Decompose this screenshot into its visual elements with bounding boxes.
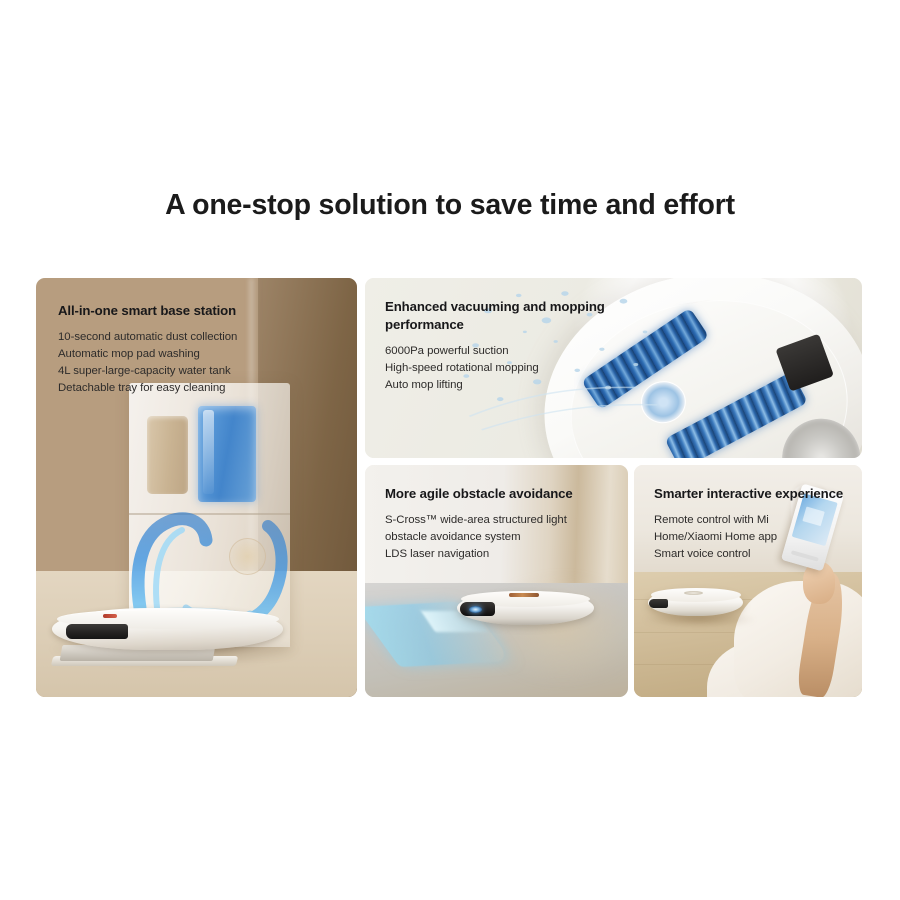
- feature-line: obstacle avoidance system: [385, 529, 600, 546]
- robot-body: [457, 591, 594, 625]
- interactive-text-block: Smarter interactive experience Remote co…: [654, 485, 844, 563]
- sensor-lens: [469, 606, 481, 613]
- feature-line: Remote control with Mi: [654, 512, 844, 529]
- card-feature-list: 10-second automatic dust collection Auto…: [58, 329, 318, 396]
- feature-line: Home/Xiaomi Home app: [654, 529, 844, 546]
- card-title: More agile obstacle avoidance: [385, 485, 600, 503]
- product-feature-page: A one-stop solution to save time and eff…: [0, 0, 900, 900]
- card-feature-list: 6000Pa powerful suction High-speed rotat…: [385, 343, 635, 393]
- robot-sensor-bumper: [66, 624, 128, 639]
- robot-body: [648, 589, 744, 616]
- card-feature-list: S-Cross™ wide-area structured light obst…: [385, 512, 600, 562]
- card-title: All-in-one smart base station: [58, 302, 318, 320]
- robot-vacuum-docked: [52, 596, 283, 659]
- feature-card-interactive-experience[interactable]: Smarter interactive experience Remote co…: [634, 465, 862, 697]
- feature-line: 4L super-large-capacity water tank: [58, 363, 318, 380]
- robot-vacuum: [457, 581, 594, 630]
- feature-line: Automatic mop pad washing: [58, 346, 318, 363]
- front-sensor: [649, 599, 668, 608]
- feature-line: Auto mop lifting: [385, 377, 635, 394]
- suction-fan: [229, 538, 266, 576]
- feature-line: 10-second automatic dust collection: [58, 329, 318, 346]
- robot-vacuum: [648, 583, 744, 620]
- robot-indicator-light: [103, 614, 117, 618]
- feature-line: Smart voice control: [654, 546, 844, 563]
- card-title: Smarter interactive experience: [654, 485, 844, 503]
- dust-bag: [147, 416, 189, 494]
- obstacle-text-block: More agile obstacle avoidance S-Cross™ w…: [385, 485, 600, 563]
- card-title: Enhanced vacuuming and mopping performan…: [385, 298, 635, 334]
- card-feature-list: Remote control with Mi Home/Xiaomi Home …: [654, 512, 844, 562]
- robot-body: [52, 608, 283, 651]
- lds-laser-turret: [509, 593, 539, 597]
- feature-line: 6000Pa powerful suction: [385, 343, 635, 360]
- feature-card-performance[interactable]: Enhanced vacuuming and mopping performan…: [365, 278, 862, 458]
- page-title: A one-stop solution to save time and eff…: [0, 188, 900, 222]
- feature-card-obstacle-avoidance[interactable]: More agile obstacle avoidance S-Cross™ w…: [365, 465, 628, 697]
- base-station-shelf-divider: [129, 513, 290, 515]
- feature-line: High-speed rotational mopping: [385, 360, 635, 377]
- feature-line: S-Cross™ wide-area structured light: [385, 512, 600, 529]
- feature-line: LDS laser navigation: [385, 546, 600, 563]
- feature-card-base-station[interactable]: All-in-one smart base station 10-second …: [36, 278, 357, 697]
- performance-text-block: Enhanced vacuuming and mopping performan…: [385, 298, 635, 394]
- feature-line: Detachable tray for easy cleaning: [58, 380, 318, 397]
- base-station-text-block: All-in-one smart base station 10-second …: [58, 302, 318, 396]
- water-tank-highlight: [203, 410, 214, 494]
